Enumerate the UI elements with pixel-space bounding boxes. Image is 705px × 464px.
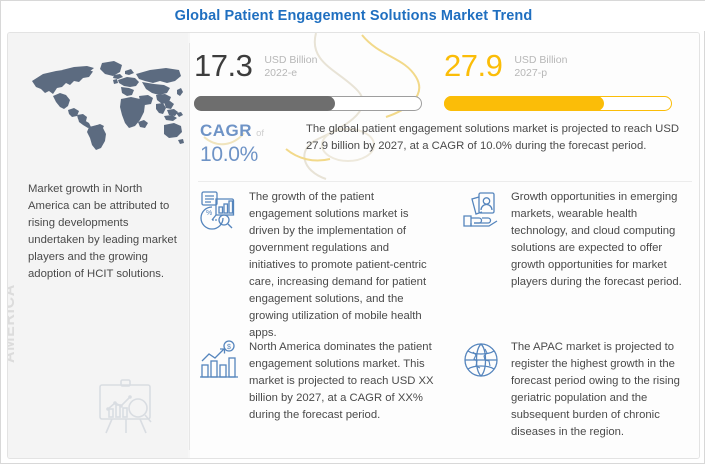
region-label: NORTH AMERICA	[7, 255, 19, 363]
metric-bar-fill-2027	[444, 96, 604, 111]
region-label-line2: AMERICA	[7, 255, 19, 363]
metric-bar-2027	[444, 96, 672, 111]
metric-2027: 27.9 USD Billion 2027-p	[444, 49, 684, 111]
insight-card-2: Growth opportunities in emerging markets…	[460, 189, 692, 291]
cagr-of-label: of	[256, 128, 264, 139]
metric-value-2027: 27.9	[444, 49, 502, 82]
left-panel-paragraph: Market growth in North America can be at…	[28, 181, 180, 283]
insight-card-3: $ North America dominates the patient en…	[198, 339, 448, 424]
metric-unit-2022: USD Billion 2022-e	[264, 54, 317, 80]
bar-chart-growth-dollar-icon: $	[198, 339, 240, 381]
section-divider	[198, 181, 692, 182]
right-column: 17.3 USD Billion 2022-e 27.9 USD Billion	[190, 33, 700, 459]
hand-holding-cards-icon	[460, 189, 502, 231]
analytics-report-magnifier-icon: %	[198, 189, 240, 231]
metric-value-2022: 17.3	[194, 49, 252, 82]
metric-unit-line2: 2027-p	[514, 67, 567, 80]
cagr-value: 10.0%	[200, 143, 298, 167]
insight-card-1-text: The growth of the patient engagement sol…	[249, 189, 435, 342]
cagr-label-row: CAGRof	[200, 121, 298, 143]
cagr-description: The global patient engagement solutions …	[306, 121, 684, 155]
metric-unit-2027: USD Billion 2027-p	[514, 54, 567, 80]
metric-unit-line2: 2022-e	[264, 67, 317, 80]
insight-card-3-text: North America dominates the patient enga…	[249, 339, 443, 424]
metric-bar-fill-2022	[194, 96, 335, 111]
world-map-icon	[14, 43, 184, 161]
metric-bar-2022	[194, 96, 422, 111]
insight-card-1: % The growth of the patient engagement s…	[198, 189, 444, 342]
globe-icon	[460, 339, 502, 381]
insight-card-4-text: The APAC market is projected to register…	[511, 339, 693, 441]
insight-card-2-text: Growth opportunities in emerging markets…	[511, 189, 689, 291]
infographic-body: Market growth in North America can be at…	[7, 32, 700, 459]
insight-card-4: The APAC market is projected to register…	[460, 339, 696, 441]
cagr-label: CAGR	[200, 121, 252, 140]
left-column: Market growth in North America can be at…	[8, 33, 188, 459]
page-title: Global Patient Engagement Solutions Mark…	[175, 8, 533, 24]
svg-text:$: $	[227, 344, 231, 351]
infographic-page: Global Patient Engagement Solutions Mark…	[0, 0, 705, 464]
svg-text:%: %	[206, 210, 212, 217]
page-title-bar: Global Patient Engagement Solutions Mark…	[1, 1, 705, 31]
presentation-chart-magnifier-icon	[90, 373, 162, 439]
metric-unit-line1: USD Billion	[264, 54, 317, 67]
metric-2022: 17.3 USD Billion 2022-e	[194, 49, 434, 111]
cagr-block: CAGRof 10.0%	[200, 121, 298, 167]
metric-unit-line1: USD Billion	[514, 54, 567, 67]
